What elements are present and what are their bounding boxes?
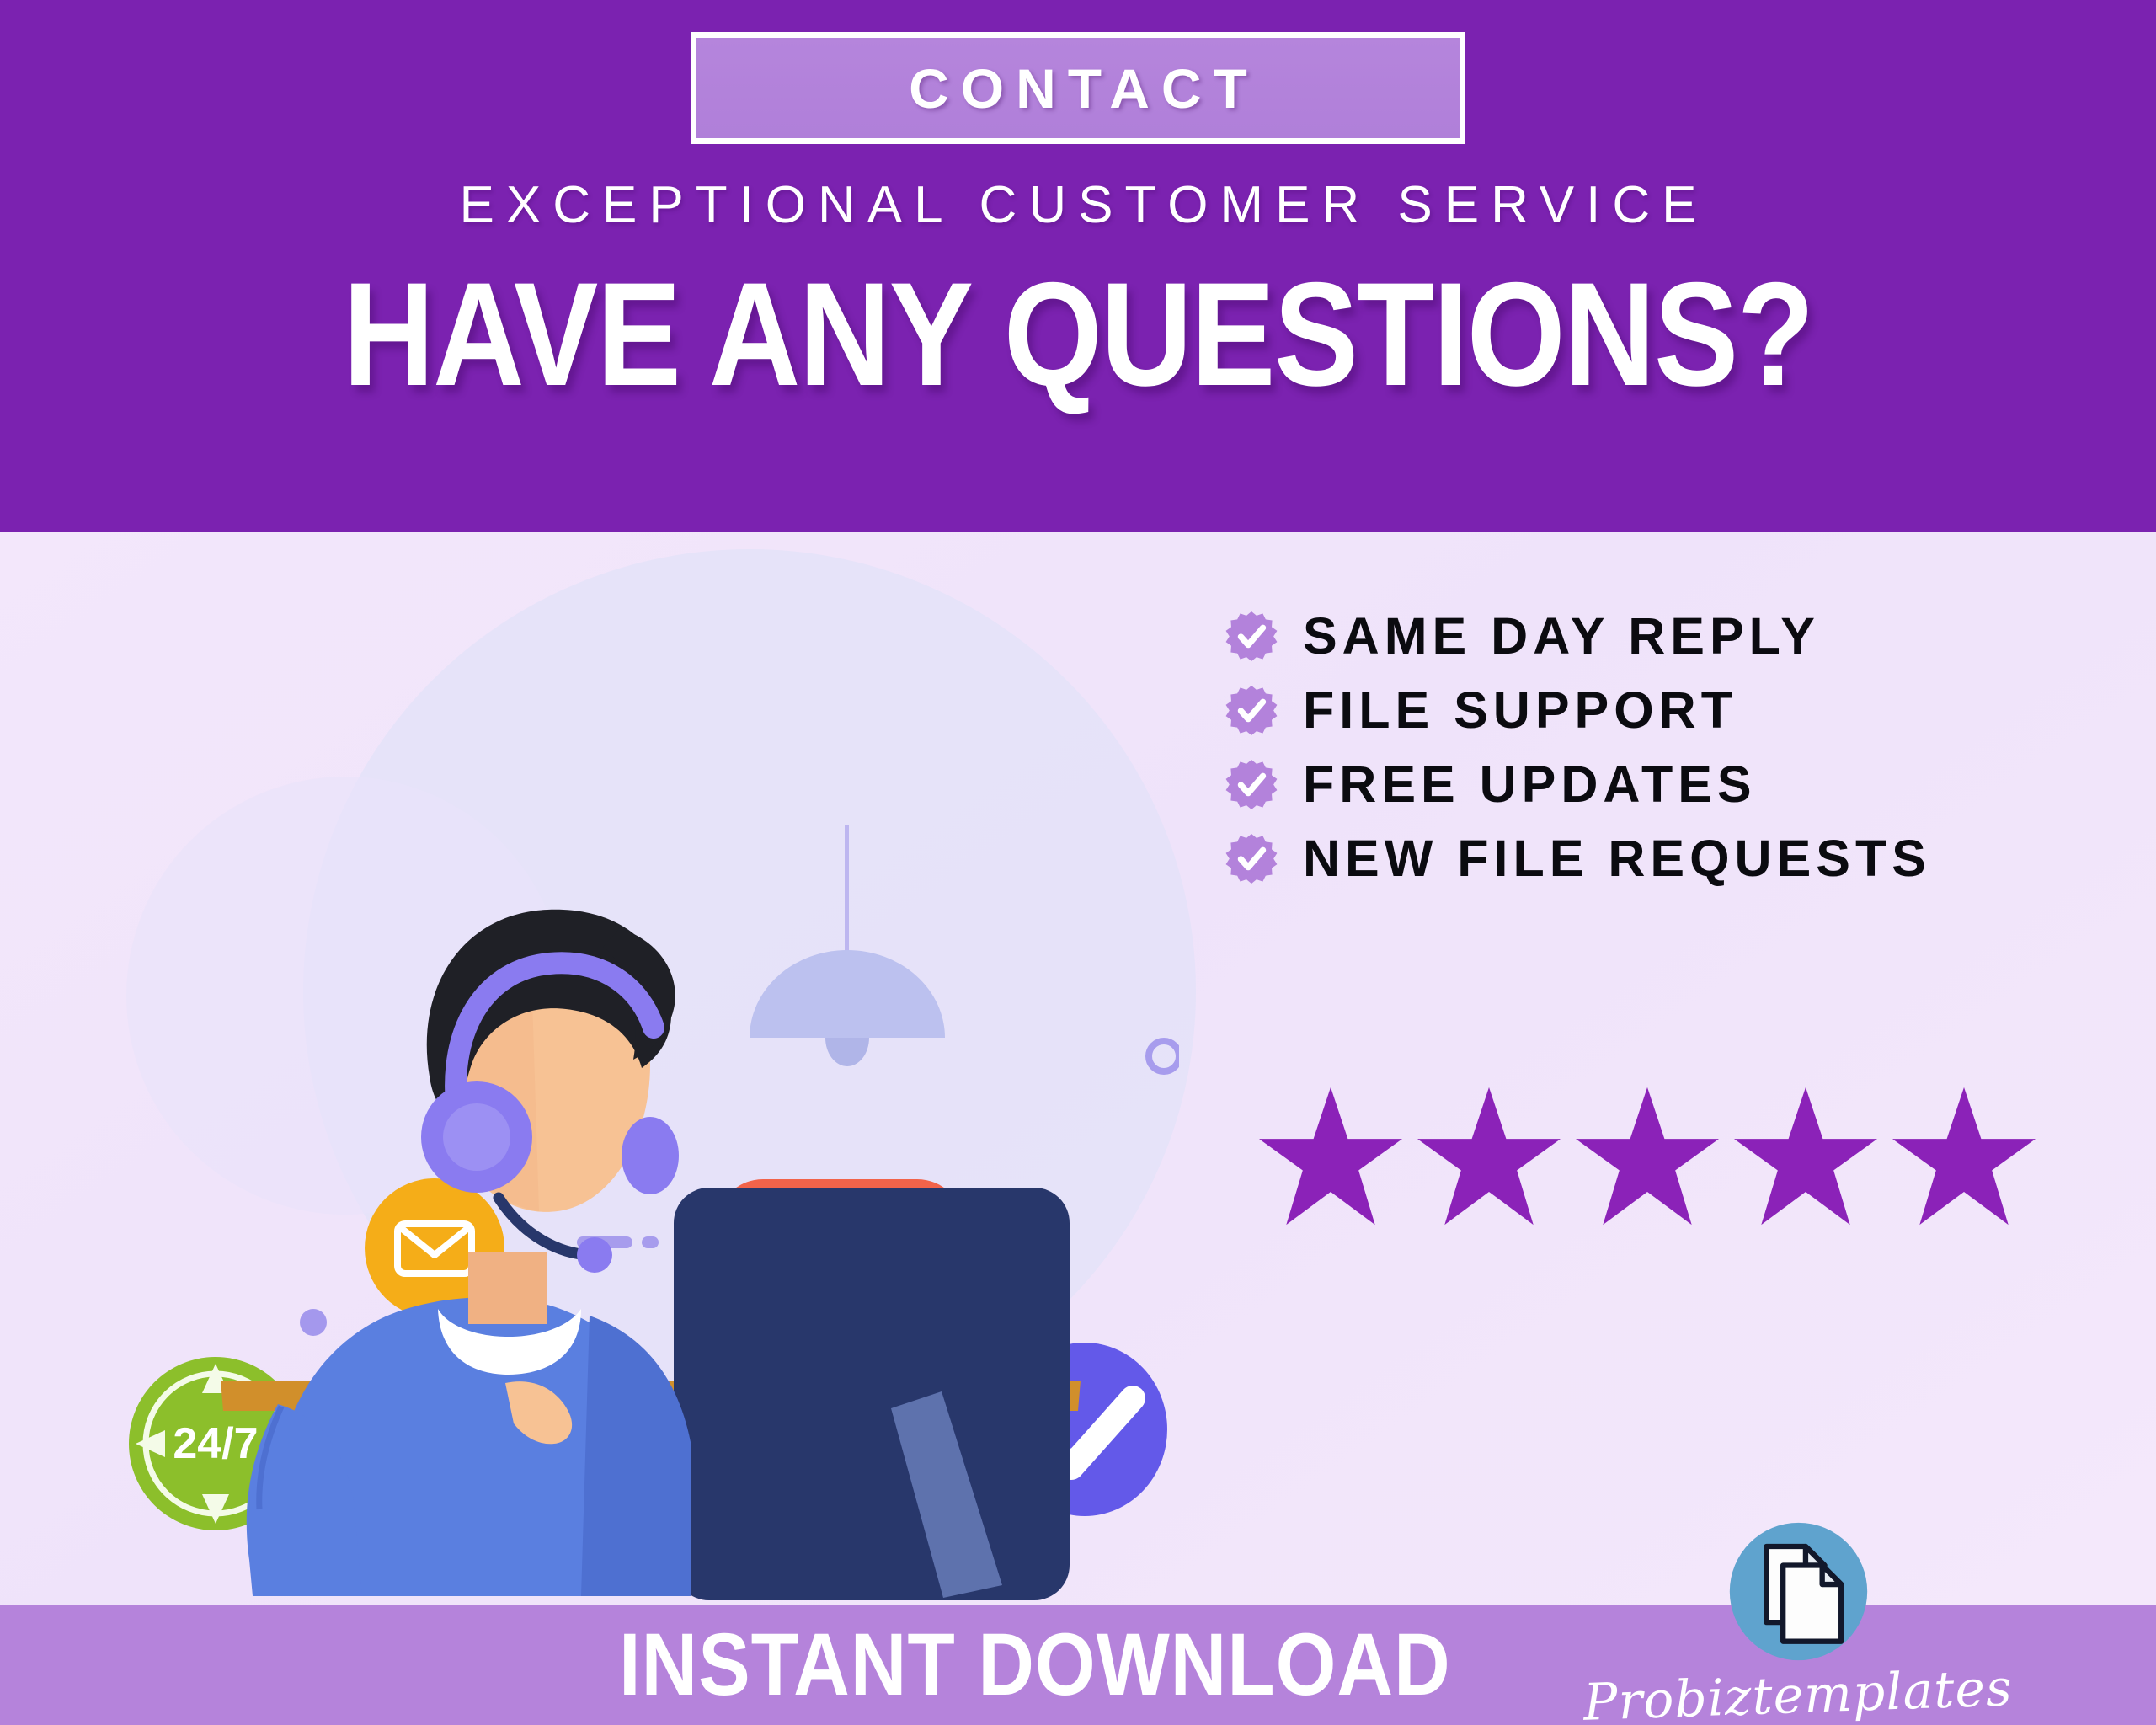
star-icon [1259,1087,1402,1226]
check-badge-icon [1225,684,1278,736]
clock-badge-label: 24/7 [173,1419,258,1468]
star-rating [1259,1087,2036,1226]
computer-monitor [665,1188,1070,1600]
main-stage: 24/7 [0,532,2156,1605]
support-agent-figure [247,910,691,1596]
features-list: SAME DAY REPLY FILE SUPPORT FREE UPDATES [1225,606,1931,888]
star-icon [1417,1087,1561,1226]
poster-canvas: CONTACT EXCEPTIONAL CUSTOMER SERVICE HAV… [0,0,2156,1725]
check-badge-icon [1225,758,1278,810]
star-icon [1734,1087,1877,1226]
instant-download-label: INSTANT DOWNLOAD [619,1615,1451,1716]
contact-badge-label: CONTACT [897,56,1259,120]
list-item: SAME DAY REPLY [1225,606,1931,665]
brand-lockup: Probiztemplates [1621,1520,1975,1725]
feature-label: SAME DAY REPLY [1303,606,1820,665]
header-subtitle: EXCEPTIONAL CUSTOMER SERVICE [448,175,1709,235]
header-banner: CONTACT EXCEPTIONAL CUSTOMER SERVICE HAV… [0,0,2156,532]
list-item: FREE UPDATES [1225,755,1931,814]
page-title: HAVE ANY QUESTIONS? [343,261,1813,409]
check-badge-icon [1225,832,1278,884]
feature-label: FREE UPDATES [1303,755,1757,814]
customer-service-illustration: 24/7 [0,532,1179,1605]
contact-badge: CONTACT [691,32,1465,144]
star-icon [1576,1087,1719,1226]
feature-label: NEW FILE REQUESTS [1303,829,1931,888]
feature-label: FILE SUPPORT [1303,681,1737,740]
star-icon [1892,1087,2036,1226]
brand-name: Probiztemplates [1582,1658,2014,1725]
list-item: NEW FILE REQUESTS [1225,829,1931,888]
check-badge-icon [1225,610,1278,662]
documents-logo-icon [1725,1520,1872,1663]
hanging-lamp-icon [750,825,945,1066]
list-item: FILE SUPPORT [1225,681,1931,740]
